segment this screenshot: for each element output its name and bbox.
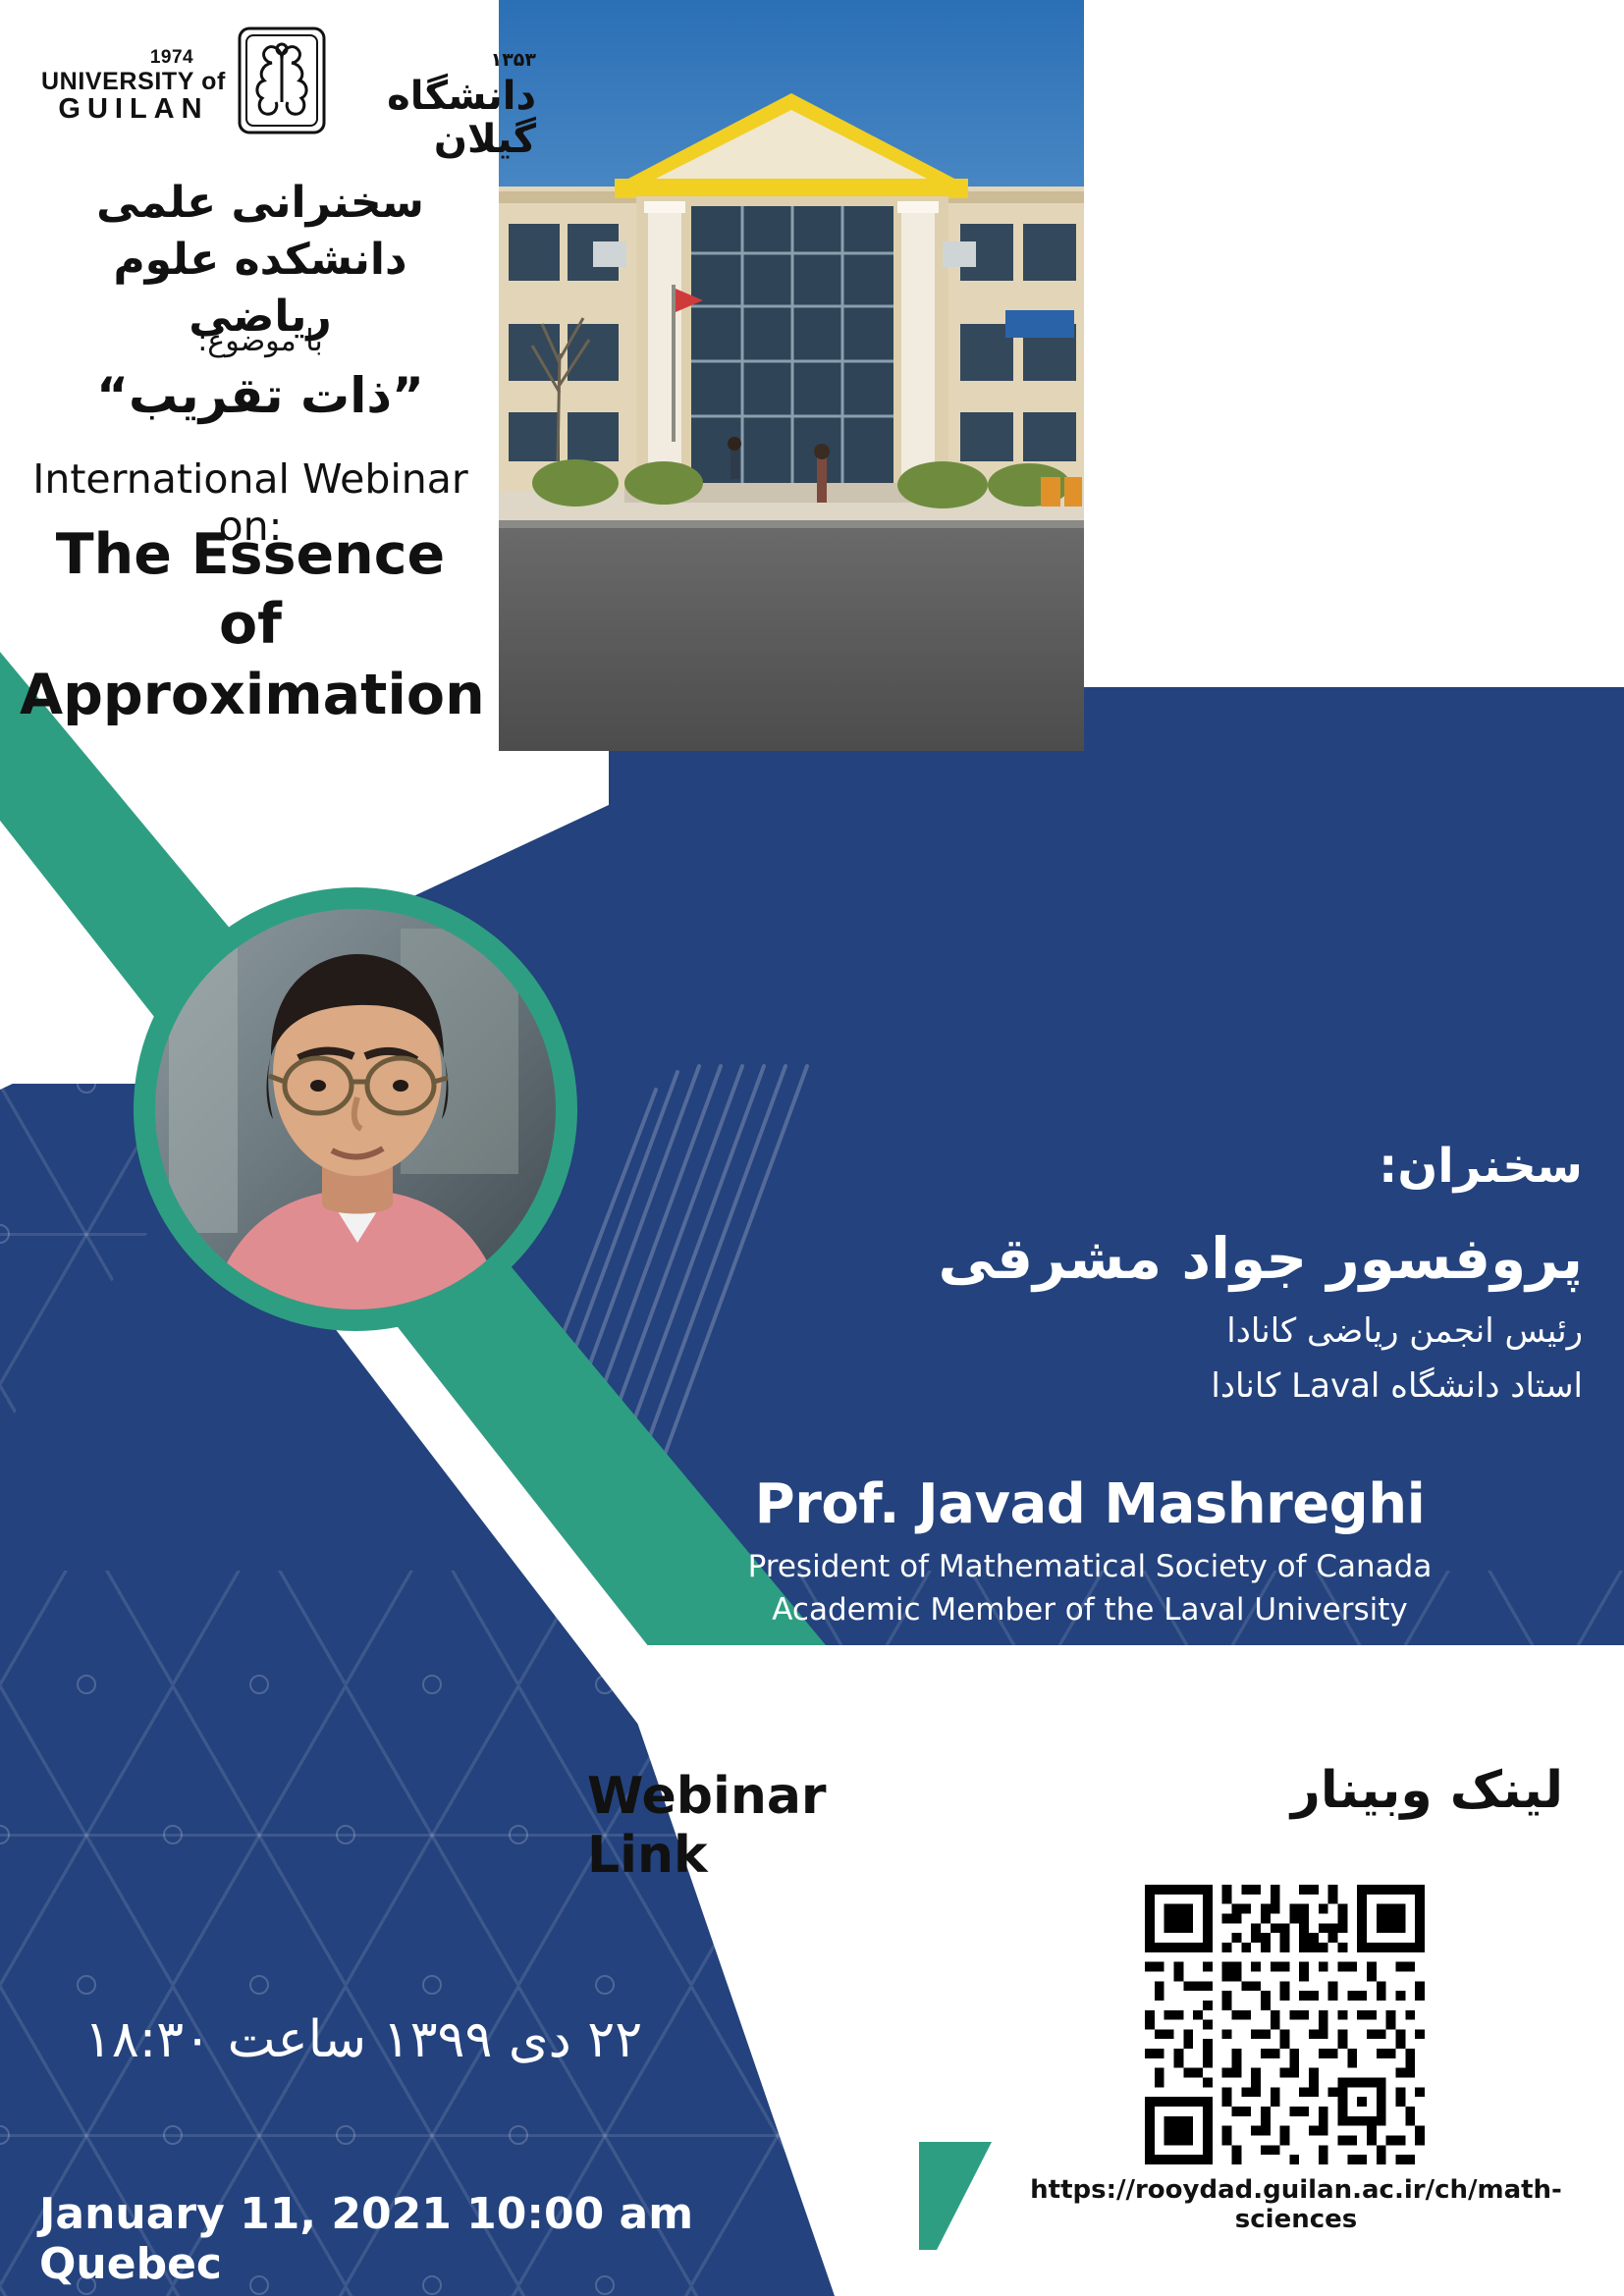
speaker-portrait [155,909,556,1309]
webinar-title-line2: Approximation [20,661,481,730]
speaker-role2-en: Academic Member of the Laval University [589,1592,1591,1628]
event-date-en: January 11, 2021 10:00 am Quebec [39,2189,746,2289]
event-heading-fa-line1: سخنرانی علمی [39,175,481,232]
logo-guilan: GUILAN [35,94,232,126]
event-heading-fa: سخنرانی علمی دانشکده علوم ریاضی [39,175,481,346]
speaker-label-fa: سخنران: [699,1139,1583,1194]
webinar-link-label-en: Webinar Link [587,1767,911,1885]
logo-university-of: UNIVERSITY of [35,69,232,94]
subject-label-fa: با موضوع: [39,324,481,358]
poster-canvas: 1974 UNIVERSITY of GUILAN ۱۳۵۳ دانشگاه گ… [0,0,1624,2296]
logo-founding-year-fa: ۱۳۵۳ [491,49,536,71]
speaker-name-fa: پروفسور جواد مشرقی [699,1225,1583,1292]
speaker-role1-en: President of Mathematical Society of Can… [589,1549,1591,1584]
webinar-qr-code[interactable] [1145,1885,1425,2164]
speaker-role2-fa: استاد دانشگاه Laval کانادا [699,1366,1583,1406]
speaker-portrait-ring [134,887,577,1331]
webinar-url[interactable]: https://rooydad.guilan.ac.ir/ch/math-sci… [982,2175,1610,2234]
webinar-title-line1: The Essence of [20,520,481,661]
university-logo: 1974 UNIVERSITY of GUILAN ۱۳۵۳ دانشگاه گ… [35,18,499,139]
event-date-fa: ۲۲ دی ۱۳۹۹ ساعت ۱۸:۳۰ [39,2010,687,2069]
webinar-title-en: The Essence of Approximation [20,520,481,730]
speaker-name-en: Prof. Javad Mashreghi [589,1472,1591,1536]
logo-university-name-fa: دانشگاه گیلان [387,74,536,162]
logo-persian-lockup: ۱۳۵۳ دانشگاه گیلان [330,31,536,161]
topic-title-fa: ”ذات تقریب“ [39,367,481,424]
webinar-link-label-fa: لینک وبینار [1229,1761,1563,1820]
speaker-role1-fa: رئیس انجمن ریاضی کانادا [699,1311,1583,1351]
logo-english-lockup: 1974 UNIVERSITY of GUILAN [35,47,232,126]
logo-founding-year-en: 1974 [112,47,232,69]
guilan-emblem-icon [237,26,327,135]
